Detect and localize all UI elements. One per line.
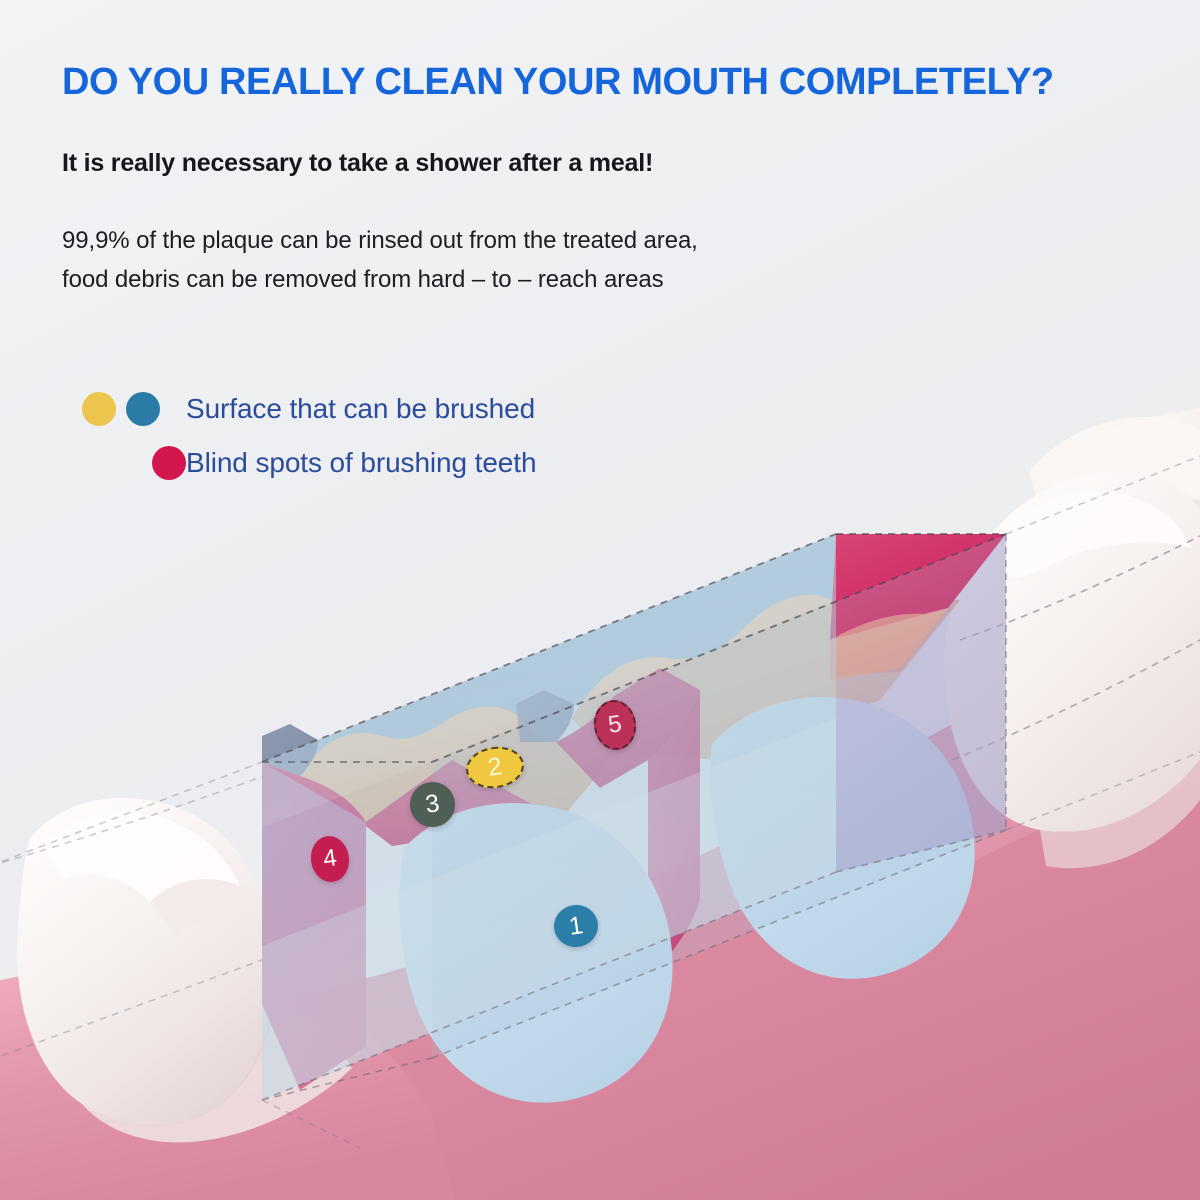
legend-label-blind-spots: Blind spots of brushing teeth xyxy=(186,447,536,479)
legend-dot-teal-icon xyxy=(126,392,160,426)
legend-dot-crimson-icon xyxy=(152,446,186,480)
infographic-poster: 1 2 3 4 5 DO YOU REALLY CLEAN YOUR MOUTH… xyxy=(0,0,1200,1200)
body-copy-line-1: 99,9% of the plaque can be rinsed out fr… xyxy=(62,222,1142,261)
legend-dot-yellow-icon xyxy=(82,392,116,426)
legend-swatches-brushable xyxy=(82,392,186,426)
page-title: DO YOU REALLY CLEAN YOUR MOUTH COMPLETEL… xyxy=(62,62,1142,103)
legend-swatches-blind xyxy=(82,446,186,480)
body-copy-line-2: food debris can be removed from hard – t… xyxy=(62,261,1142,300)
legend-item-blind-spots: Blind spots of brushing teeth xyxy=(82,436,536,490)
header-text-block: DO YOU REALLY CLEAN YOUR MOUTH COMPLETEL… xyxy=(62,62,1142,300)
body-copy: 99,9% of the plaque can be rinsed out fr… xyxy=(62,222,1142,300)
subtitle: It is really necessary to take a shower … xyxy=(62,149,1142,178)
legend-label-brushable: Surface that can be brushed xyxy=(186,393,535,425)
legend-item-brushable: Surface that can be brushed xyxy=(82,382,536,436)
legend: Surface that can be brushed Blind spots … xyxy=(82,382,536,490)
